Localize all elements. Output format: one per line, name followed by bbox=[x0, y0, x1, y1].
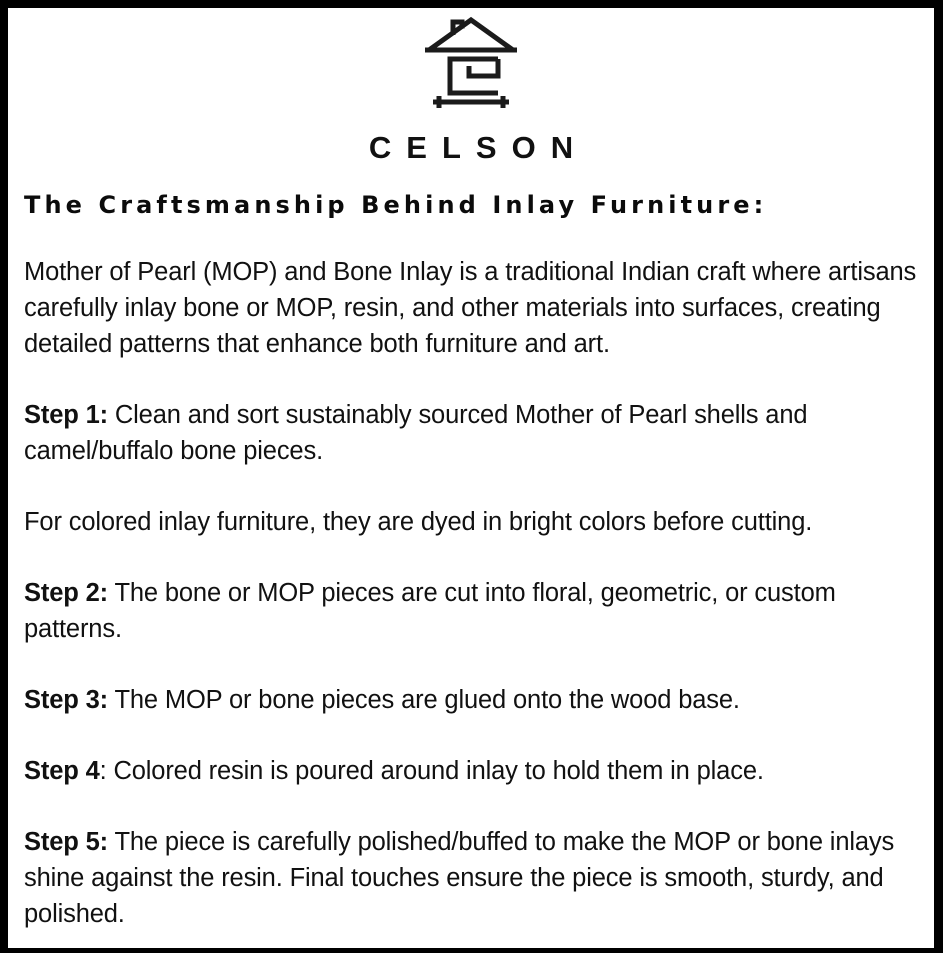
brand-wordmark: CELSON bbox=[16, 132, 926, 163]
intro-paragraph: Mother of Pearl (MOP) and Bone Inlay is … bbox=[24, 254, 918, 362]
step-3-paragraph: Step 3: The MOP or bone pieces are glued… bbox=[24, 682, 918, 718]
step-1-paragraph: Step 1: Clean and sort sustainably sourc… bbox=[24, 397, 918, 469]
step-4-label: Step 4 bbox=[24, 757, 100, 785]
poster-frame: CELSON The Craftsmanship Behind Inlay Fu… bbox=[0, 0, 943, 953]
step-4-paragraph: Step 4: Colored resin is poured around i… bbox=[24, 753, 918, 789]
step-5-text: The piece is carefully polished/buffed t… bbox=[24, 828, 894, 928]
page-title: The Craftsmanship Behind Inlay Furniture… bbox=[16, 191, 926, 220]
step-3-label: Step 3: bbox=[24, 686, 108, 714]
step-1-label: Step 1: bbox=[24, 401, 108, 429]
step-3-text: The MOP or bone pieces are glued onto th… bbox=[108, 686, 740, 714]
headline-spacer bbox=[16, 220, 926, 254]
step-2-text: The bone or MOP pieces are cut into flor… bbox=[24, 579, 836, 643]
colored-inlay-note: For colored inlay furniture, they are dy… bbox=[24, 504, 918, 540]
step-1-text: Clean and sort sustainably sourced Mothe… bbox=[24, 401, 807, 465]
house-logo-icon bbox=[419, 14, 523, 114]
step-5-label: Step 5: bbox=[24, 828, 108, 856]
step-4-text: : Colored resin is poured around inlay t… bbox=[100, 757, 764, 785]
step-2-label: Step 2: bbox=[24, 579, 108, 607]
step-2-paragraph: Step 2: The bone or MOP pieces are cut i… bbox=[24, 575, 918, 647]
body-copy: Mother of Pearl (MOP) and Bone Inlay is … bbox=[16, 254, 926, 932]
step-5-paragraph: Step 5: The piece is carefully polished/… bbox=[24, 824, 918, 932]
poster-content: CELSON The Craftsmanship Behind Inlay Fu… bbox=[8, 8, 934, 948]
brand-block: CELSON bbox=[16, 8, 926, 163]
